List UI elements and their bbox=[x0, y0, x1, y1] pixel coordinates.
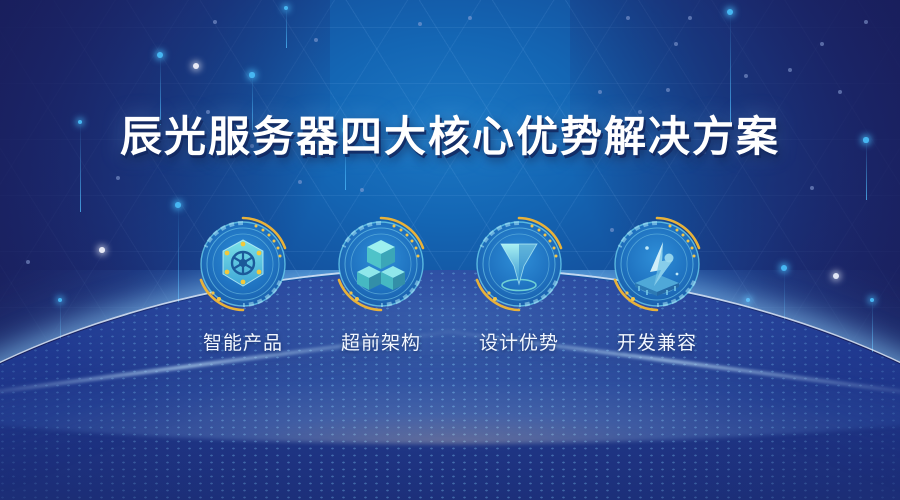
feature-item-design-advantage[interactable]: 设计优势 bbox=[463, 214, 575, 355]
down-arrow-funnel-icon bbox=[469, 214, 569, 314]
hero-banner: 辰光服务器四大核心优势解决方案 bbox=[0, 0, 900, 500]
feature-item-development-compatibility[interactable]: 开发兼容 bbox=[601, 214, 713, 355]
feature-label: 设计优势 bbox=[479, 328, 559, 355]
feature-list: 智能产品 bbox=[0, 214, 900, 355]
feature-label: 开发兼容 bbox=[617, 328, 697, 355]
feature-item-advanced-architecture[interactable]: 超前架构 bbox=[325, 214, 437, 355]
hexagon-wheel-icon bbox=[193, 214, 293, 314]
page-title: 辰光服务器四大核心优势解决方案 bbox=[0, 116, 900, 158]
feature-label: 超前架构 bbox=[341, 328, 421, 355]
feature-label: 智能产品 bbox=[203, 328, 283, 355]
cube-blocks-icon bbox=[331, 214, 431, 314]
chip-lightning-icon bbox=[607, 214, 707, 314]
feature-item-smart-products[interactable]: 智能产品 bbox=[187, 214, 299, 355]
